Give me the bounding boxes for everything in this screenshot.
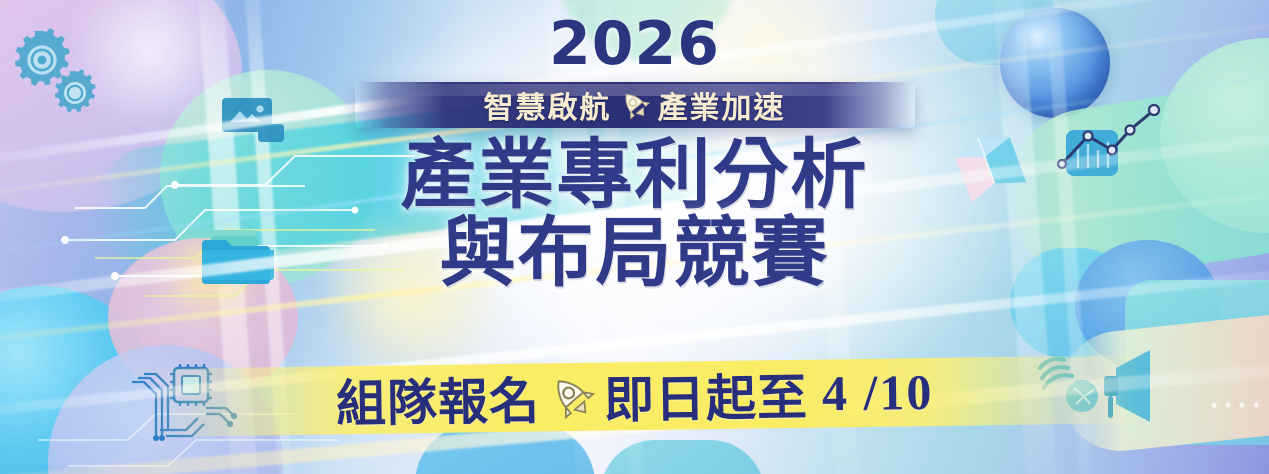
title-line-2: 與布局競賽: [440, 216, 830, 290]
subtitle-ribbon: 智慧啟航 產業加速: [355, 82, 915, 128]
cta-period-label: 即日起至: [603, 358, 808, 433]
subtitle-ribbon-text: 智慧啟航 產業加速: [484, 83, 786, 127]
subtitle-text-after: 產業加速: [658, 83, 786, 127]
event-banner: 2026 智慧啟航 產業加速 產業專利分析 與布局競賽: [0, 0, 1269, 474]
cta-date: 4 /10: [821, 363, 933, 423]
banner-year: 2026: [549, 14, 720, 74]
title-line-1: 產業專利分析: [401, 138, 869, 212]
page-title: 產業專利分析 與布局競賽: [401, 138, 869, 291]
rocket-icon: [545, 374, 598, 421]
rocket-icon: [618, 90, 652, 120]
subtitle-text-before: 智慧啟航: [484, 83, 612, 127]
cta-section: 組隊報名 即日起至 4 /10: [0, 358, 1269, 434]
cta-text: 組隊報名 即日起至 4 /10: [335, 356, 933, 436]
cta-label: 組隊報名: [335, 361, 540, 436]
